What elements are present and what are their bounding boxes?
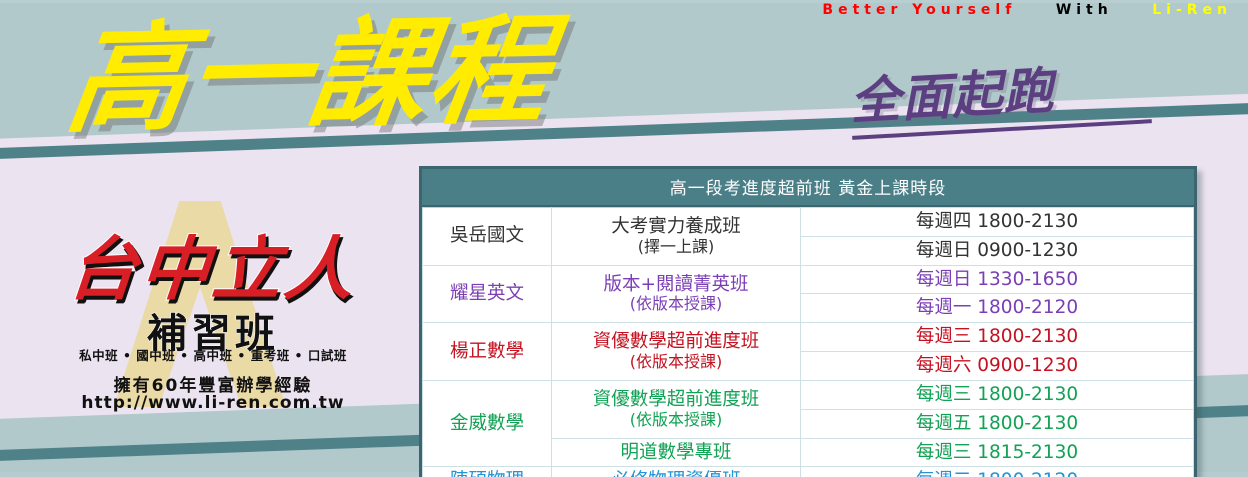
tagline-part-2: With: [1056, 2, 1113, 18]
course-cell: 版本+閱讀菁英班(依版本授課): [552, 265, 801, 323]
time-cell: 每週三 1800-2130: [801, 380, 1194, 409]
course-note: (依版本授課): [556, 295, 796, 314]
time-cell: 每週六 0900-1230: [801, 352, 1194, 381]
time-cell: 每週三 1815-2130: [801, 438, 1194, 467]
page-subtitle: 全面起跑: [848, 45, 1152, 134]
course-note: (擇一上課): [556, 238, 796, 257]
school-logo: 台中立人 補習班 私中班 • 國中班 • 高中班 • 重考班 • 口試班 擁有6…: [28, 205, 398, 420]
teacher-cell: 耀星英文: [423, 265, 552, 323]
tagline-part-1: Better Yourself: [822, 2, 1016, 18]
course-cell: 資優數學超前進度班(依版本授課): [552, 323, 801, 381]
table-row: 金威數學資優數學超前進度班(依版本授課)每週三 1800-2130: [423, 380, 1194, 409]
page-title: 高一課程: [60, 4, 560, 146]
promotional-banner: Better Yourself With Li-Ren 高一課程 全面起跑 台中…: [0, 0, 1248, 477]
teacher-cell: 楊正數學: [423, 323, 552, 381]
logo-website-url[interactable]: http://www.li-ren.com.tw: [28, 393, 398, 413]
course-cell: 明道數學專班: [552, 438, 801, 467]
tagline-part-3: Li-Ren: [1152, 2, 1232, 18]
course-cell: 資優數學超前進度班(依版本授課): [552, 380, 801, 438]
schedule-table: 吳岳國文大考實力養成班(擇一上課)每週四 1800-2130每週日 0900-1…: [422, 207, 1194, 477]
time-cell: 每週二 1800-2120: [801, 467, 1194, 477]
time-cell: 每週四 1800-2130: [801, 208, 1194, 237]
course-cell: 必修物理資優班: [552, 467, 801, 477]
schedule-header: 高一段考進度超前班 黃金上課時段: [422, 169, 1194, 207]
teacher-cell: 吳岳國文: [423, 208, 552, 266]
course-cell: 大考實力養成班(擇一上課): [552, 208, 801, 266]
table-row: 楊正數學資優數學超前進度班(依版本授課)每週三 1800-2130: [423, 323, 1194, 352]
time-cell: 每週一 1800-2120: [801, 294, 1194, 323]
teacher-cell: 陳碩物理: [423, 467, 552, 477]
tagline: Better Yourself With Li-Ren: [822, 2, 1232, 18]
page-subtitle-group: 全面起跑: [848, 45, 1152, 140]
time-cell: 每週日 1330-1650: [801, 265, 1194, 294]
logo-school-name: 台中立人: [24, 213, 403, 313]
course-note: (依版本授課): [556, 353, 796, 372]
time-cell: 每週五 1800-2130: [801, 409, 1194, 438]
table-row: 陳碩物理必修物理資優班每週二 1800-2120: [423, 467, 1194, 477]
table-row: 耀星英文版本+閱讀菁英班(依版本授課)每週日 1330-1650: [423, 265, 1194, 294]
course-note: (依版本授課): [556, 411, 796, 430]
logo-class-list: 私中班 • 國中班 • 高中班 • 重考班 • 口試班: [28, 345, 398, 364]
teacher-cell: 金威數學: [423, 380, 552, 466]
time-cell: 每週日 0900-1230: [801, 236, 1194, 265]
table-row: 吳岳國文大考實力養成班(擇一上課)每週四 1800-2130: [423, 208, 1194, 237]
schedule-panel: 高一段考進度超前班 黃金上課時段 吳岳國文大考實力養成班(擇一上課)每週四 18…: [419, 166, 1197, 477]
time-cell: 每週三 1800-2130: [801, 323, 1194, 352]
